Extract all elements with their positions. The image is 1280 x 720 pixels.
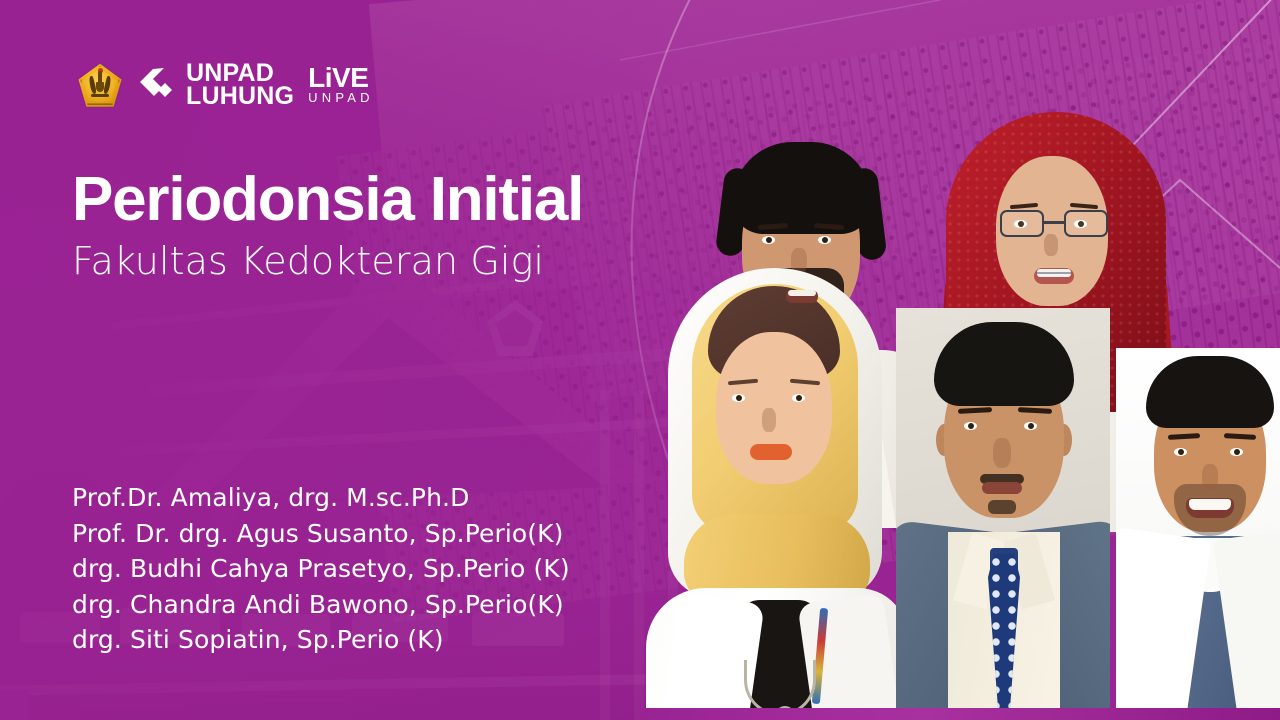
live-label: LiVE <box>308 65 374 91</box>
list-item: Prof.Dr. Amaliya, drg. M.sc.Ph.D <box>72 480 570 516</box>
portrait-collage <box>640 120 1280 720</box>
headline-block: Periodonsia Initial Fakultas Kedokteran … <box>72 168 583 288</box>
portrait-man-white-coat-blue-shirt <box>1116 348 1280 720</box>
portrait-man-grey-suit-blue-tie <box>896 308 1110 720</box>
live-unpad-logo: LiVE UNPAD <box>308 65 374 106</box>
live-sub-label: UNPAD <box>308 91 374 106</box>
presentation-slide: UNPAD LUHUNG LiVE UNPAD Periodonsia Init… <box>0 0 1280 720</box>
photo-base-strip-left <box>0 690 28 720</box>
portrait-woman-cream-hijab-white-coat <box>640 268 910 720</box>
list-item: drg. Chandra Andi Bawono, Sp.Perio(K) <box>72 587 570 623</box>
chevron-left-mark-icon <box>134 65 174 105</box>
page-title: Periodonsia Initial <box>72 168 583 232</box>
unpad-luhung-wordmark: UNPAD LUHUNG <box>186 62 294 109</box>
wordmark-line-2: LUHUNG <box>186 85 294 108</box>
unpad-crest-icon <box>78 63 122 107</box>
list-item: drg. Siti Sopiatin, Sp.Perio (K) <box>72 622 570 658</box>
list-item: drg. Budhi Cahya Prasetyo, Sp.Perio (K) <box>72 551 570 587</box>
page-subtitle: Fakultas Kedokteran Gigi <box>72 236 583 287</box>
presenter-list: Prof.Dr. Amaliya, drg. M.sc.Ph.D Prof. D… <box>72 480 570 658</box>
list-item: Prof. Dr. drg. Agus Susanto, Sp.Perio(K) <box>72 516 570 552</box>
photo-base-strip <box>640 708 1280 720</box>
brand-logo-bar: UNPAD LUHUNG LiVE UNPAD <box>78 62 374 109</box>
